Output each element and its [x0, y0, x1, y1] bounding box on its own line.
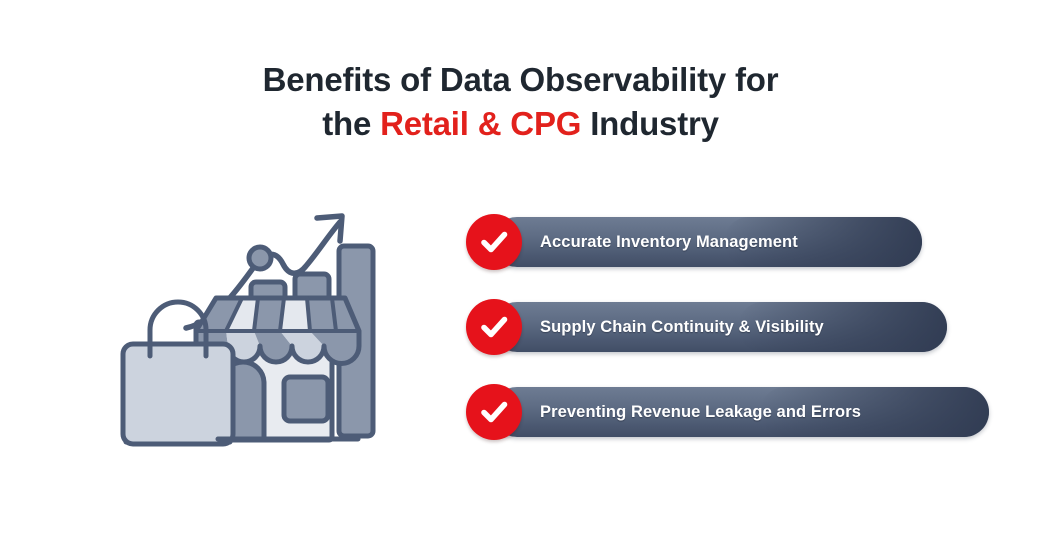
title-line-2-suffix: Industry: [581, 105, 719, 142]
square-window: [284, 377, 328, 421]
benefit-item-2[interactable]: Supply Chain Continuity & Visibility: [466, 299, 986, 355]
benefit-label-1: Accurate Inventory Management: [492, 233, 824, 252]
check-icon: [466, 299, 522, 355]
benefit-pill-1[interactable]: Accurate Inventory Management: [492, 217, 922, 267]
benefit-item-1[interactable]: Accurate Inventory Management: [466, 214, 986, 270]
benefits-list: Accurate Inventory Management Supply Cha…: [466, 214, 986, 440]
benefit-label-2: Supply Chain Continuity & Visibility: [492, 318, 850, 337]
benefit-label-3: Preventing Revenue Leakage and Errors: [492, 403, 887, 422]
check-icon: [466, 384, 522, 440]
title-line-2: the Retail & CPG Industry: [0, 102, 1041, 146]
retail-storefront-growth-illustration: [108, 196, 388, 466]
title-accent-retail-cpg: Retail & CPG: [380, 105, 581, 142]
infographic-canvas: Benefits of Data Observability for the R…: [0, 0, 1041, 540]
benefit-item-3[interactable]: Preventing Revenue Leakage and Errors: [466, 384, 986, 440]
title-line-1: Benefits of Data Observability for: [0, 58, 1041, 102]
check-icon: [466, 214, 522, 270]
page-title: Benefits of Data Observability for the R…: [0, 58, 1041, 146]
benefit-pill-2[interactable]: Supply Chain Continuity & Visibility: [492, 302, 947, 352]
title-line-2-prefix: the: [322, 105, 380, 142]
benefit-pill-3[interactable]: Preventing Revenue Leakage and Errors: [492, 387, 989, 437]
